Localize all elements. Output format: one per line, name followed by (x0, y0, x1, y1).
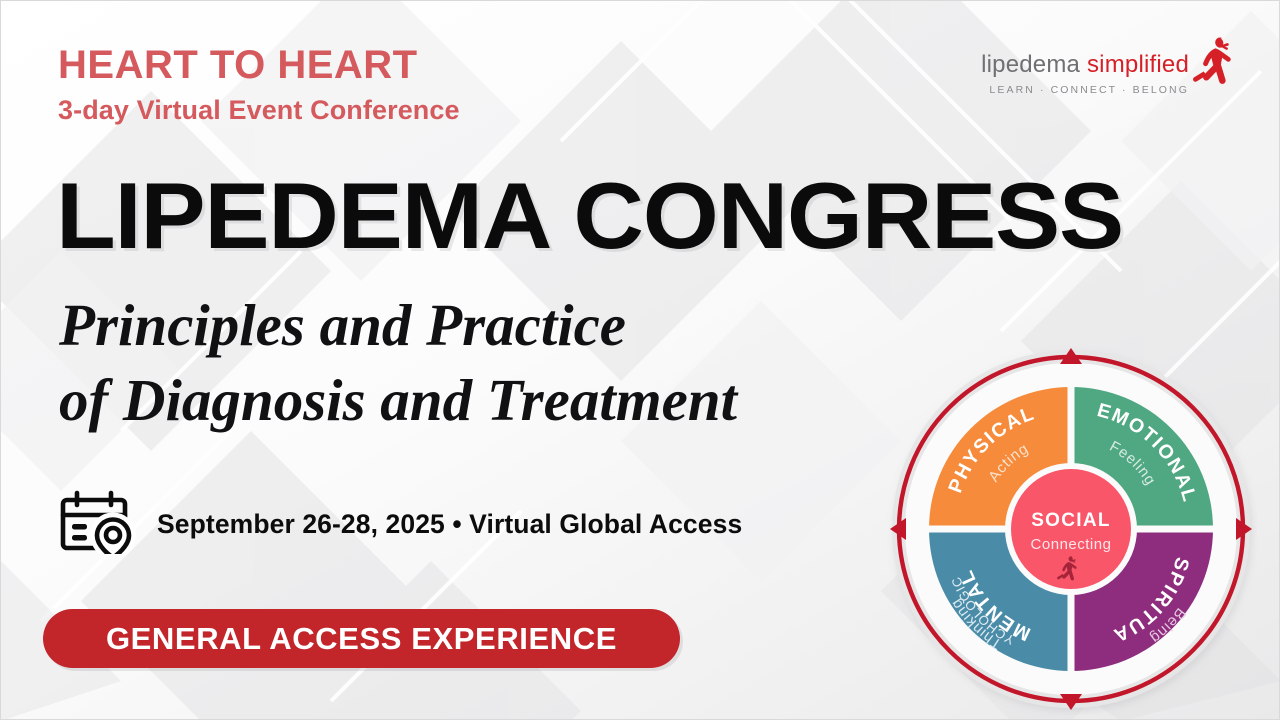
event-details-row: September 26-28, 2025 • Virtual Global A… (59, 490, 742, 559)
brand-wordmark: lipedema simplified (981, 53, 1189, 77)
brand-logo-text: lipedema simplified LEARN · CONNECT · BE… (981, 49, 1189, 96)
page-subtitle-line-2: of Diagnosis and Treatment (59, 363, 737, 438)
wellness-wheel-diagram: SOCIAL Connecting PHYSICAL Acting EMOTIO… (885, 343, 1257, 715)
page-subtitle-line-1: Principles and Practice (59, 288, 737, 363)
cta-button-label: GENERAL ACCESS EXPERIENCE (106, 621, 617, 657)
brand-tagline: LEARN · CONNECT · BELONG (981, 84, 1189, 96)
event-series-title: HEART TO HEART (58, 45, 460, 85)
eyebrow-heading-block: HEART TO HEART 3-day Virtual Event Confe… (58, 45, 460, 124)
brand-logo[interactable]: lipedema simplified LEARN · CONNECT · BE… (981, 49, 1237, 100)
wheel-hub-label: SOCIAL (1031, 510, 1111, 531)
event-format-subtitle: 3-day Virtual Event Conference (58, 97, 460, 124)
brand-word-lipedema: lipedema (981, 51, 1087, 78)
page-subtitle: Principles and Practice of Diagnosis and… (59, 288, 737, 438)
page-title: LIPEDEMA CONGRESS (56, 169, 1123, 263)
general-access-experience-button[interactable]: GENERAL ACCESS EXPERIENCE (43, 609, 680, 668)
conference-promo-poster: HEART TO HEART 3-day Virtual Event Confe… (0, 0, 1280, 720)
wheel-hub-sublabel: Connecting (1031, 536, 1112, 553)
calendar-location-icon (59, 490, 143, 559)
event-date-and-access: September 26-28, 2025 • Virtual Global A… (157, 509, 742, 540)
dancing-figure-logo-mark-icon (1191, 35, 1237, 100)
brand-word-simplified: simplified (1087, 51, 1189, 78)
